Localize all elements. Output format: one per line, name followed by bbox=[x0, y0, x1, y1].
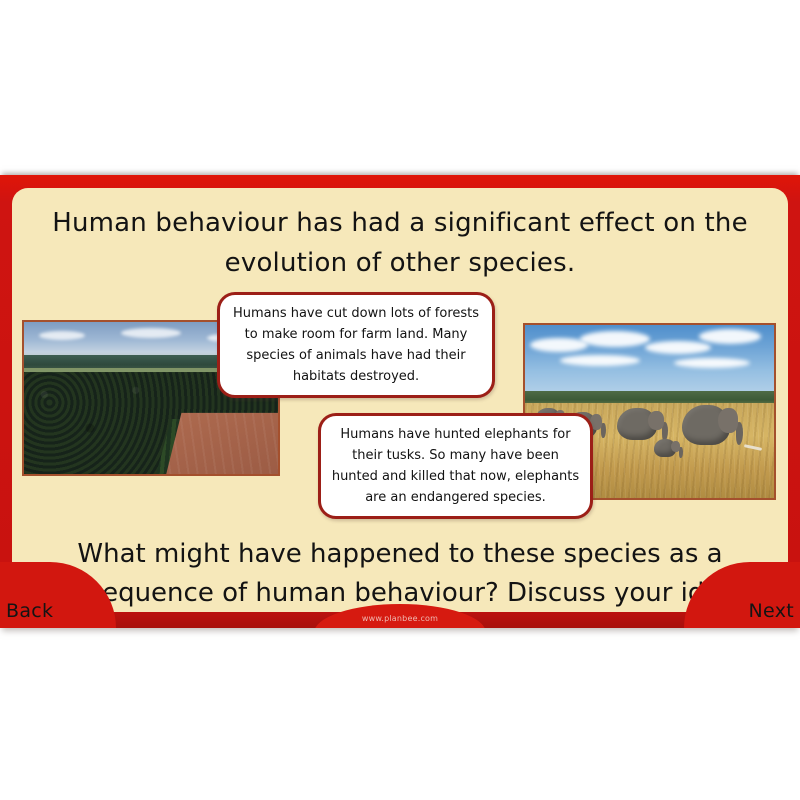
page-title: Human behaviour has had a significant ef… bbox=[42, 203, 758, 283]
cloud-shape bbox=[674, 358, 750, 368]
cloud-shape bbox=[580, 331, 650, 347]
cloud-shape bbox=[645, 341, 711, 354]
cloud-shape bbox=[560, 355, 640, 366]
speech-bubble-deforestation: Humans have cut down lots of forests to … bbox=[217, 292, 495, 398]
next-button-label: Next bbox=[749, 600, 794, 622]
slide-viewer: Human behaviour has had a significant ef… bbox=[0, 0, 800, 800]
back-button-label: Back bbox=[6, 600, 53, 622]
cloud-shape bbox=[121, 328, 181, 338]
elephant-shape bbox=[617, 408, 657, 440]
cloud-shape bbox=[699, 329, 761, 344]
cloud-shape bbox=[530, 338, 588, 352]
slide-frame: Human behaviour has had a significant ef… bbox=[0, 175, 800, 628]
speech-bubble-elephants: Humans have hunted elephants for their t… bbox=[318, 413, 593, 519]
watermark-label: www.planbee.com bbox=[362, 614, 438, 623]
speech-bubble-text: Humans have cut down lots of forests to … bbox=[230, 303, 482, 387]
elephant-calf-shape bbox=[654, 439, 676, 457]
speech-bubble-text: Humans have hunted elephants for their t… bbox=[331, 424, 580, 508]
elephant-shape bbox=[682, 405, 730, 445]
discussion-question: What might have happened to these specie… bbox=[18, 535, 782, 612]
slide-panel: Human behaviour has had a significant ef… bbox=[12, 188, 788, 612]
photo-sky-layer bbox=[525, 325, 774, 399]
cloud-shape bbox=[39, 331, 85, 340]
